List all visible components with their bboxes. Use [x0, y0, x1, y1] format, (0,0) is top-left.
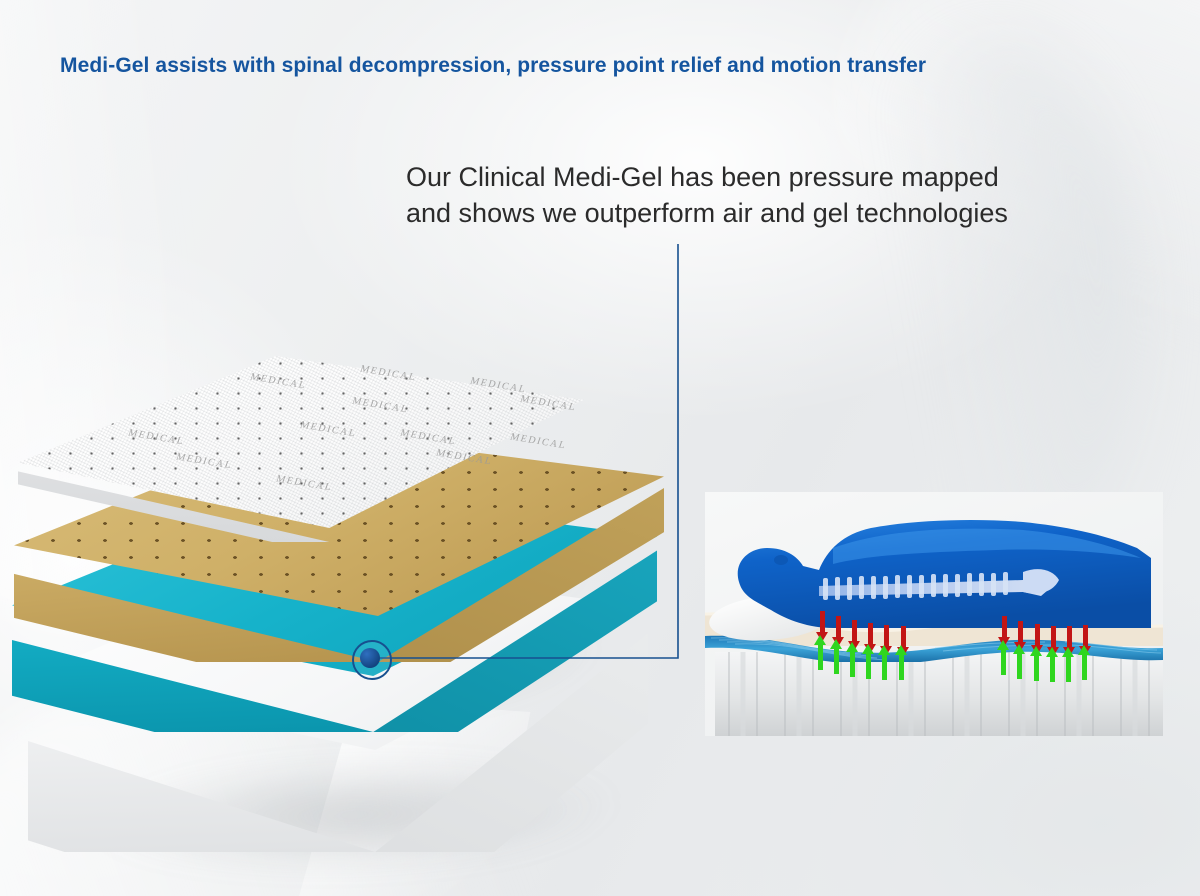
headline: Medi-Gel assists with spinal decompressi… [60, 54, 1160, 78]
support-arrow-up [866, 653, 871, 679]
support-arrow-up [1017, 653, 1022, 679]
support-arrow-up [1082, 654, 1087, 680]
callout-leader-line [360, 236, 690, 668]
pressure-arrow-down [884, 625, 889, 647]
support-arrow-up [1066, 656, 1071, 682]
pressure-arrow-down [836, 616, 841, 638]
body-copy: Our Clinical Medi-Gel has been pressure … [406, 160, 1136, 232]
support-arrow-up [899, 654, 904, 680]
pressure-arrow-down [1083, 625, 1088, 647]
body-copy-line-2: and shows we outperform air and gel tech… [406, 196, 1136, 232]
support-arrow-up [1050, 656, 1055, 682]
pressure-arrow-down [1035, 624, 1040, 646]
pressure-arrow-down [820, 611, 825, 633]
pressure-arrow-down [1018, 621, 1023, 643]
support-arrow-up [882, 654, 887, 680]
pressure-arrow-down [852, 620, 857, 642]
support-arrow-up [1001, 649, 1006, 675]
pressure-arrow-down [868, 623, 873, 645]
slide-canvas: Medi-Gel assists with spinal decompressi… [0, 0, 1200, 896]
pressure-arrow-down [1067, 626, 1072, 648]
pressure-arrow-down [1051, 626, 1056, 648]
support-arrow-up [1034, 655, 1039, 681]
pressure-map-illustration [705, 492, 1163, 736]
pressure-arrow-down [1002, 616, 1007, 638]
body-copy-line-1: Our Clinical Medi-Gel has been pressure … [406, 160, 1136, 196]
support-arrow-up [834, 648, 839, 674]
pocket-spring-base [715, 652, 1163, 736]
callout-marker-dot[interactable] [360, 648, 380, 668]
support-arrow-up [850, 651, 855, 677]
reclining-body-silhouette [723, 504, 1153, 654]
support-arrow-up [818, 644, 823, 670]
